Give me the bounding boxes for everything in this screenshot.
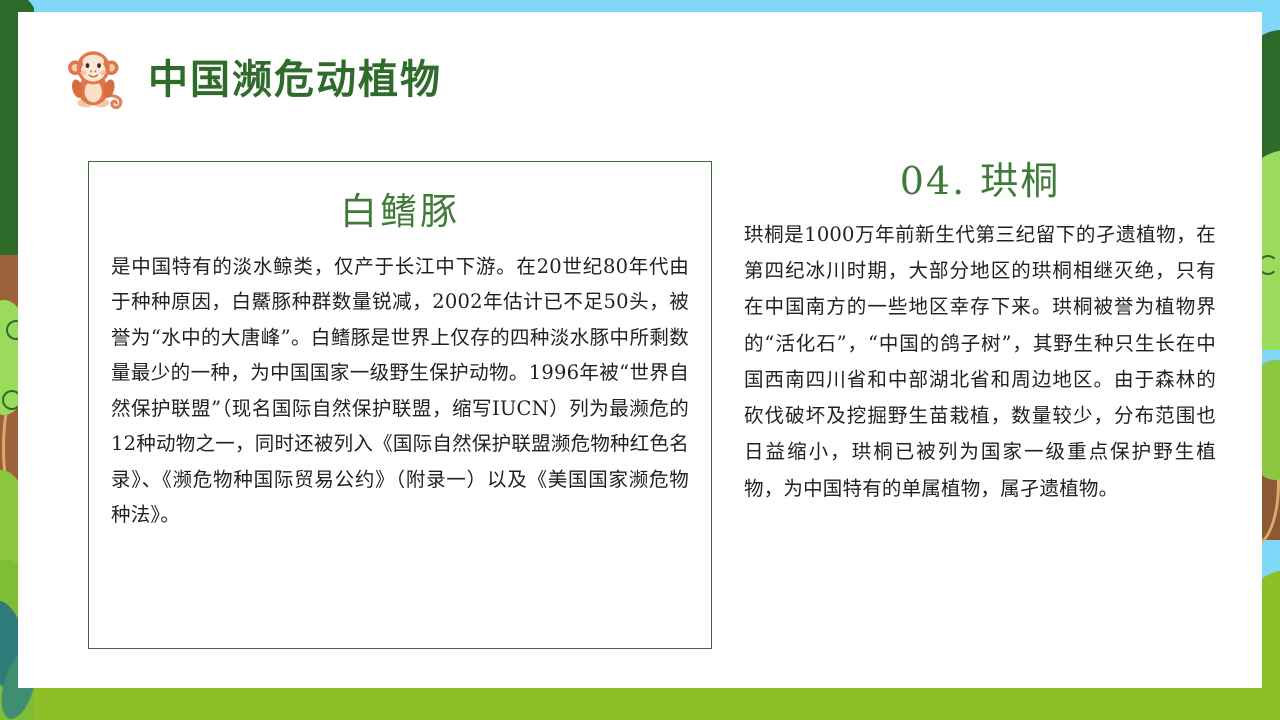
section-body-text: 珙桐是1000万年前新生代第三纪留下的孑遗植物，在第四纪冰川时期，大部分地区的珙… [744,217,1216,507]
section-title: 04. 珙桐 [744,161,1216,203]
card-title: 白鳍豚 [111,192,689,233]
section-gongtong: 04. 珙桐 珙桐是1000万年前新生代第三纪留下的孑遗植物，在第四纪冰川时期，… [744,161,1216,507]
card-body-text: 是中国特有的淡水鲸类，仅产于长江中下游。在20世纪80年代由于种种原因，白鱀豚种… [111,249,689,533]
page-title: 中国濒危动植物 [148,60,442,100]
grass-band-decoration [0,686,1280,720]
content-panel: 中国濒危动植物 白鳍豚 是中国特有的淡水鲸类，仅产于长江中下游。在20世纪80年… [18,12,1262,688]
species-card-baijitun: 白鳍豚 是中国特有的淡水鲸类，仅产于长江中下游。在20世纪80年代由于种种原因，… [88,161,712,649]
monkey-icon [58,44,130,116]
slide-header: 中国濒危动植物 [58,44,442,116]
slide-root: 中国濒危动植物 白鳍豚 是中国特有的淡水鲸类，仅产于长江中下游。在20世纪80年… [0,0,1280,720]
